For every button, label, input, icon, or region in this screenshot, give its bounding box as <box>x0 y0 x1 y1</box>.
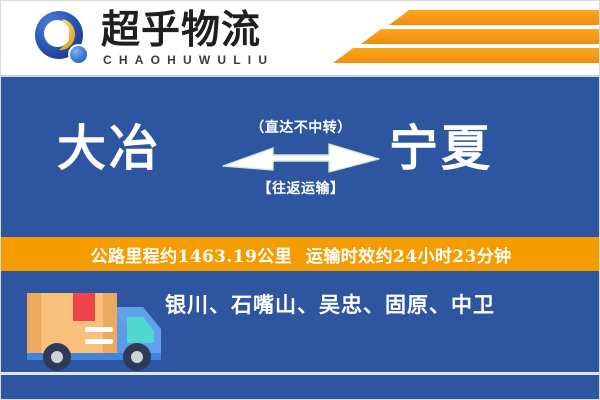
origin-city: 大冶 <box>57 119 161 177</box>
stripe-1 <box>389 10 600 25</box>
route-note-top: （直达不中转） <box>221 119 381 137</box>
logo-accent-dot <box>68 44 89 65</box>
route-center-group: （直达不中转） 【往返运输】 <box>221 119 381 198</box>
destination-city: 宁夏 <box>389 119 493 177</box>
stripe-2 <box>361 29 600 44</box>
stripe-3 <box>333 48 600 63</box>
distance-text: 公路里程约1463.19公里 <box>90 247 292 267</box>
info-bar-text: 公路里程约1463.19公里运输时效约24小时23分钟 <box>90 242 511 267</box>
banner-header: 超乎物流 CHAOHUWULIU <box>1 1 600 75</box>
route-note-bottom: 【往返运输】 <box>221 180 381 198</box>
duration-text: 运输时效约24小时23分钟 <box>306 247 512 267</box>
brand-block: 超乎物流 CHAOHUWULIU <box>101 9 274 67</box>
covered-cities-list: 银川、石嘴山、吴忠、固原、中卫 <box>165 289 495 319</box>
route-info-bar: 公路里程约1463.19公里运输时效约24小时23分钟 <box>1 237 600 271</box>
brand-name-en: CHAOHUWULIU <box>101 53 274 67</box>
brand-name-cn: 超乎物流 <box>101 9 274 51</box>
logistics-route-banner: 超乎物流 CHAOHUWULIU 大冶 宁夏 （直达不中转） 【往返运输】 公路… <box>0 0 600 400</box>
footer-strip <box>1 375 600 400</box>
company-logo-icon <box>35 11 91 67</box>
delivery-truck-icon <box>19 277 171 373</box>
speed-stripes-icon <box>333 7 600 69</box>
double-headed-arrow-icon <box>221 140 381 176</box>
